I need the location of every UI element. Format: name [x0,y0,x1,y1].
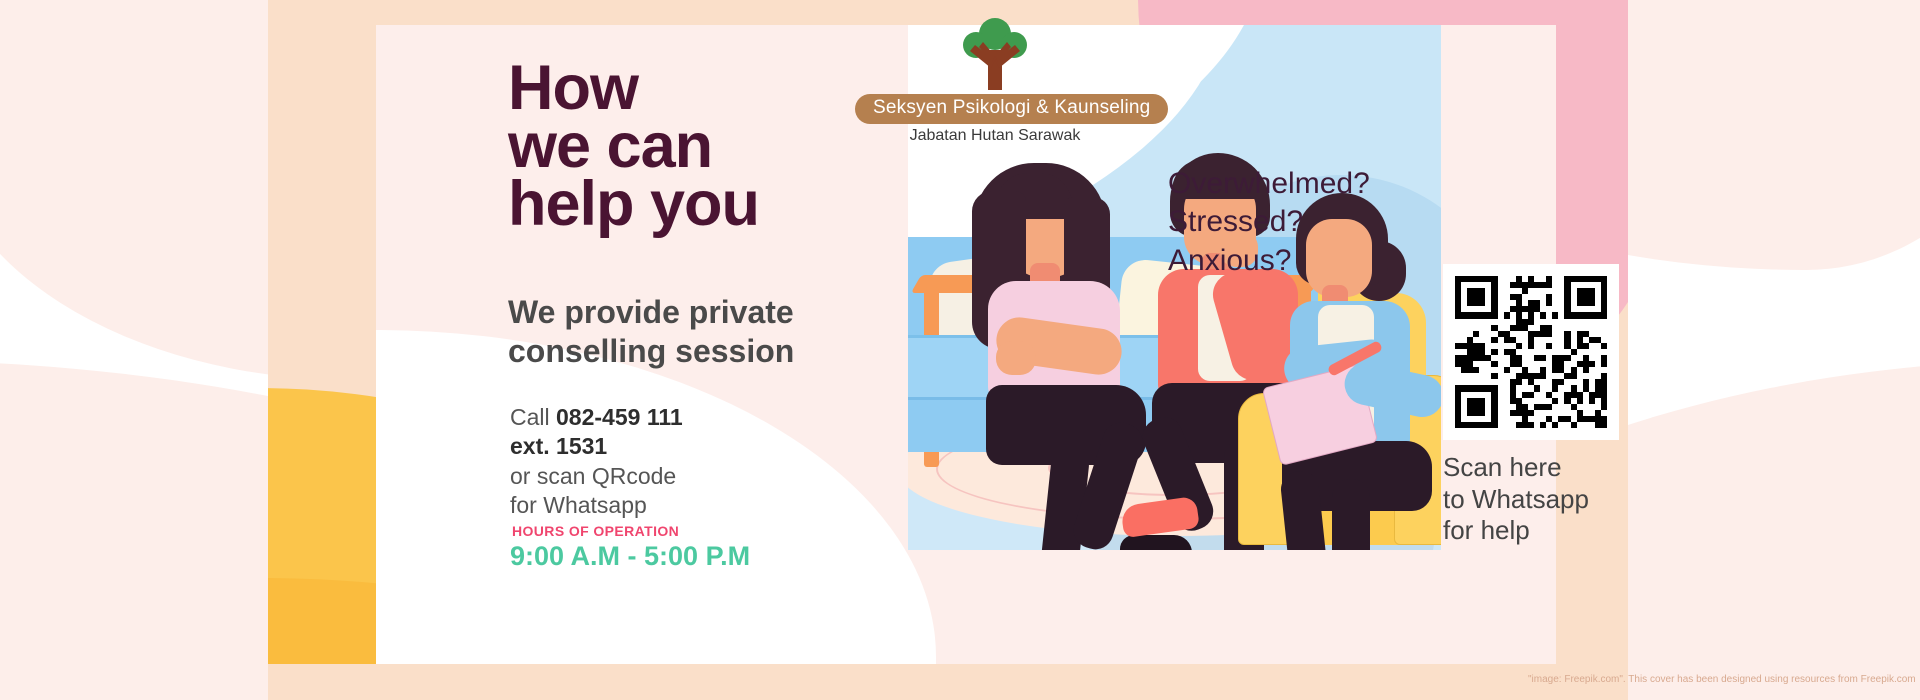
call-label: Call [510,404,556,430]
prompt-line-3: Anxious? [1168,242,1370,280]
subhead-line-1: We provide private [508,293,794,332]
phone-extension: ext. 1531 [510,433,607,459]
contact-ext-line: ext. 1531 [510,432,683,461]
image-credit: "image: Freepik.com". This cover has bee… [1528,674,1916,685]
contact-phone-line: Call 082-459 111 [510,403,683,432]
contact-block: Call 082-459 111 ext. 1531 or scan QRcod… [510,403,683,521]
headline-line-2: we can [508,118,759,176]
service-subheading: We provide private conselling session [508,293,794,371]
qr-caption-line-3: for help [1443,515,1589,547]
contact-line-4: for Whatsapp [510,491,683,520]
client-woman-hand [996,341,1036,375]
prompt-questions: Overwhelmed? Stressed? Anxious? [1168,165,1370,280]
subhead-line-2: conselling session [508,332,794,371]
qr-code-icon[interactable] [1443,264,1619,440]
poster-canvas: Seksyen Psikologi & Kaunseling Jabatan H… [0,0,1920,700]
organisation-logo: Seksyen Psikologi & Kaunseling Jabatan H… [855,14,1135,145]
hours-value: 9:00 A.M - 5:00 P.M [510,541,750,572]
qr-caption-line-2: to Whatsapp [1443,484,1589,516]
prompt-line-2: Stressed? [1168,203,1370,241]
qr-caption-line-1: Scan here [1443,452,1589,484]
counsellor-leg-back [1332,479,1370,550]
tree-icon [957,14,1033,92]
headline-line-3: help you [508,176,759,234]
phone-number[interactable]: 082-459 111 [556,404,683,430]
client-woman-shoe-front [1120,535,1192,550]
card-bottom-strip [268,664,1628,700]
hours-label: HOURS OF OPERATION [512,523,679,539]
headline-line-1: How [508,60,759,118]
logo-badge-text: Seksyen Psikologi & Kaunseling [855,94,1168,124]
page-title: How we can help you [508,60,759,234]
contact-line-3: or scan QRcode [510,462,683,491]
prompt-line-1: Overwhelmed? [1168,165,1370,203]
qr-caption: Scan here to Whatsapp for help [1443,452,1589,547]
logo-subtitle: Jabatan Hutan Sarawak [855,127,1135,145]
qr-code-matrix [1455,276,1607,428]
